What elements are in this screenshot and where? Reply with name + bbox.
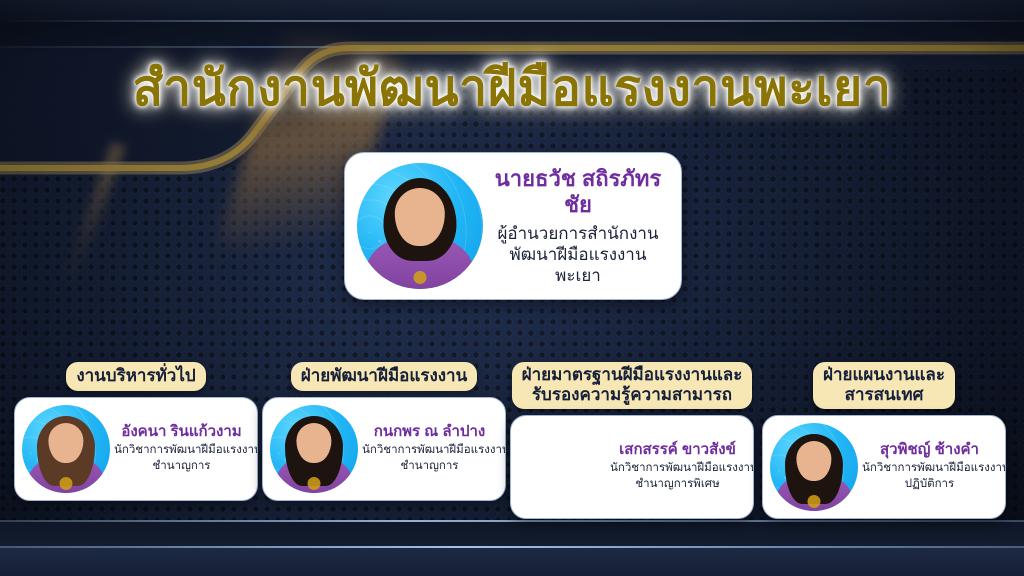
staff-name-4: สุวพิชญ์ ช้างคำ (862, 441, 997, 460)
director-info: นายธวัช สถิรภัทรชัย ผู้อำนวยการสำนักงาน … (483, 166, 667, 287)
director-role-line-2: พัฒนาฝีมือแรงงานพะเยา (489, 244, 667, 287)
org-chart-slide: สำนักงานพัฒนาฝีมือแรงงานพะเยา นายธวัช สถ… (0, 0, 1024, 576)
staff-photo-1 (22, 405, 110, 493)
staff-card-4: สุวพิชญ์ ช้างคำ นักวิชาการพัฒนาฝีมือแรงง… (762, 415, 1006, 519)
department-header-2-line-1: ฝ่ายพัฒนาฝีมือแรงงาน (301, 366, 467, 386)
staff-role-2-line-1: นักวิชาการพัฒนาฝีมือแรงงาน (362, 443, 497, 459)
staff-role-1-line-2: ชำนาญการ (114, 459, 249, 475)
director-name: นายธวัช สถิรภัทรชัย (489, 166, 667, 219)
staff-info-2: กนกพร ณ ลำปาง นักวิชาการพัฒนาฝีมือแรงงาน… (358, 423, 497, 475)
staff-name-3: เสกสรรค์ ขาวสังข์ (610, 441, 745, 460)
staff-name-1: อังคนา รินแก้วงาม (114, 423, 249, 442)
department-column-3: ฝ่ายมาตรฐานฝีมือแรงงานและ รับรองความรู้ค… (510, 362, 754, 519)
staff-role-1-line-1: นักวิชาการพัฒนาฝีมือแรงงาน (114, 443, 249, 459)
bottom-band-upper (0, 520, 1024, 546)
staff-card-3: เสกสรรค์ ขาวสังข์ นักวิชาการพัฒนาฝีมือแร… (510, 415, 754, 519)
director-card: นายธวัช สถิรภัทรชัย ผู้อำนวยการสำนักงาน … (344, 152, 682, 300)
department-header-2: ฝ่ายพัฒนาฝีมือแรงงาน (291, 362, 477, 391)
staff-photo-4 (770, 423, 858, 511)
department-header-4-line-1: ฝ่ายแผนงานและ (823, 365, 945, 385)
staff-photo-2 (270, 405, 358, 493)
staff-role-2-line-2: ชำนาญการ (362, 459, 497, 475)
department-column-2: ฝ่ายพัฒนาฝีมือแรงงาน กนกพร ณ ลำปาง นักวิ… (262, 362, 506, 501)
department-column-4: ฝ่ายแผนงานและ สารสนเทศ สุวพิชญ์ ช้างคำ น… (762, 362, 1006, 519)
staff-card-1: อังคนา รินแก้วงาม นักวิชาการพัฒนาฝีมือแร… (14, 397, 258, 501)
staff-role-3-line-2: ชำนาญการพิเศษ (610, 477, 745, 493)
department-header-4: ฝ่ายแผนงานและ สารสนเทศ (813, 362, 955, 409)
staff-info-1: อังคนา รินแก้วงาม นักวิชาการพัฒนาฝีมือแร… (110, 423, 249, 475)
department-header-4-line-2: สารสนเทศ (823, 385, 945, 405)
staff-role-4-line-2: ปฏิบัติการ (862, 477, 997, 493)
staff-card-2: กนกพร ณ ลำปาง นักวิชาการพัฒนาฝีมือแรงงาน… (262, 397, 506, 501)
director-role-line-1: ผู้อำนวยการสำนักงาน (489, 223, 667, 244)
staff-photo-3-missing (518, 423, 606, 511)
page-title: สำนักงานพัฒนาฝีมือแรงงานพะเยา (0, 62, 1024, 115)
department-header-3-line-2: รับรองความรู้ความสามารถ (522, 385, 743, 405)
department-header-3: ฝ่ายมาตรฐานฝีมือแรงงานและ รับรองความรู้ค… (512, 362, 753, 409)
department-header-1-line-1: งานบริหารทั่วไป (76, 366, 195, 386)
staff-role-3-line-1: นักวิชาการพัฒนาฝีมือแรงงาน (610, 461, 745, 477)
department-column-1: งานบริหารทั่วไป อังคนา รินแก้วงาม นักวิช… (14, 362, 258, 501)
bottom-band-lower (0, 546, 1024, 576)
staff-role-4-line-1: นักวิชาการพัฒนาฝีมือแรงงาน (862, 461, 997, 477)
department-header-1: งานบริหารทั่วไป (66, 362, 205, 391)
staff-name-2: กนกพร ณ ลำปาง (362, 423, 497, 442)
department-header-3-line-1: ฝ่ายมาตรฐานฝีมือแรงงานและ (522, 365, 743, 385)
staff-info-3: เสกสรรค์ ขาวสังข์ นักวิชาการพัฒนาฝีมือแร… (606, 441, 745, 493)
director-photo (357, 163, 483, 289)
director-portrait-silhouette (357, 163, 483, 289)
staff-info-4: สุวพิชญ์ ช้างคำ นักวิชาการพัฒนาฝีมือแรงง… (858, 441, 997, 493)
